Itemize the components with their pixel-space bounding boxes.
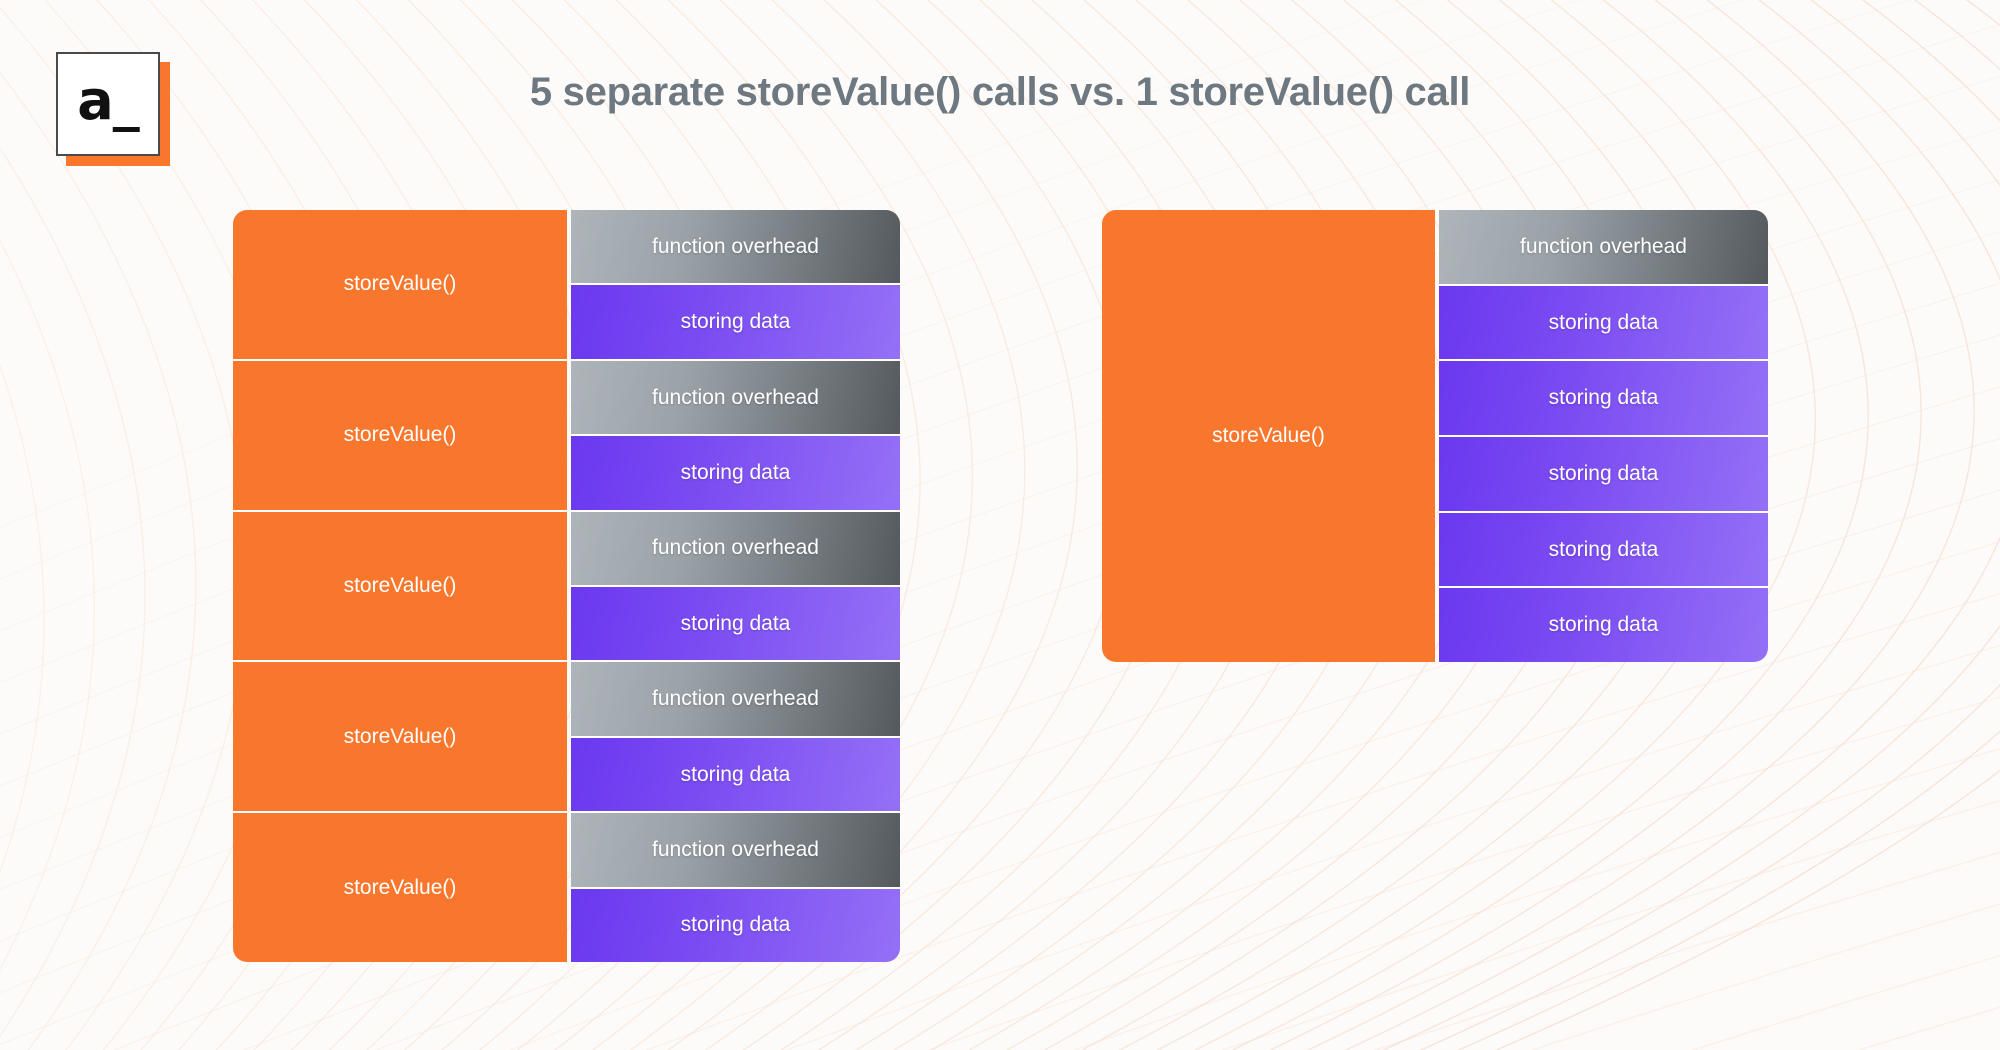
call-block: storeValue() — [233, 361, 567, 512]
phase-column-left: function overheadstoring datafunction ov… — [571, 210, 900, 962]
call-block: storeValue() — [1102, 210, 1435, 662]
phase-block-storing-data: storing data — [571, 436, 900, 511]
logo-wordmark: a_ — [77, 74, 138, 128]
phase-block-function-overhead: function overhead — [571, 512, 900, 587]
brand-logo: a_ — [56, 52, 160, 156]
phase-block-function-overhead: function overhead — [571, 813, 900, 888]
call-column-left: storeValue()storeValue()storeValue()stor… — [233, 210, 567, 962]
phase-block-storing-data: storing data — [1439, 588, 1768, 662]
phase-block-storing-data: storing data — [571, 738, 900, 813]
call-column-right: storeValue() — [1102, 210, 1435, 662]
phase-block-storing-data: storing data — [571, 889, 900, 962]
phase-block-storing-data: storing data — [1439, 286, 1768, 362]
call-block: storeValue() — [233, 210, 567, 361]
phase-block-storing-data: storing data — [1439, 361, 1768, 437]
page-title: 5 separate storeValue() calls vs. 1 stor… — [0, 70, 2000, 115]
phase-block-function-overhead: function overhead — [571, 210, 900, 285]
call-block: storeValue() — [233, 813, 567, 962]
logo-box: a_ — [56, 52, 160, 156]
phase-block-storing-data: storing data — [571, 285, 900, 360]
phase-block-storing-data: storing data — [1439, 513, 1768, 589]
phase-block-storing-data: storing data — [1439, 437, 1768, 513]
call-block: storeValue() — [233, 512, 567, 663]
diagram-five-separate-calls: storeValue()storeValue()storeValue()stor… — [233, 210, 900, 962]
call-block: storeValue() — [233, 662, 567, 813]
phase-block-function-overhead: function overhead — [1439, 210, 1768, 286]
phase-block-function-overhead: function overhead — [571, 361, 900, 436]
phase-column-right: function overheadstoring datastoring dat… — [1439, 210, 1768, 662]
phase-block-storing-data: storing data — [571, 587, 900, 662]
diagram-single-call: storeValue() function overheadstoring da… — [1102, 210, 1768, 662]
phase-block-function-overhead: function overhead — [571, 662, 900, 737]
